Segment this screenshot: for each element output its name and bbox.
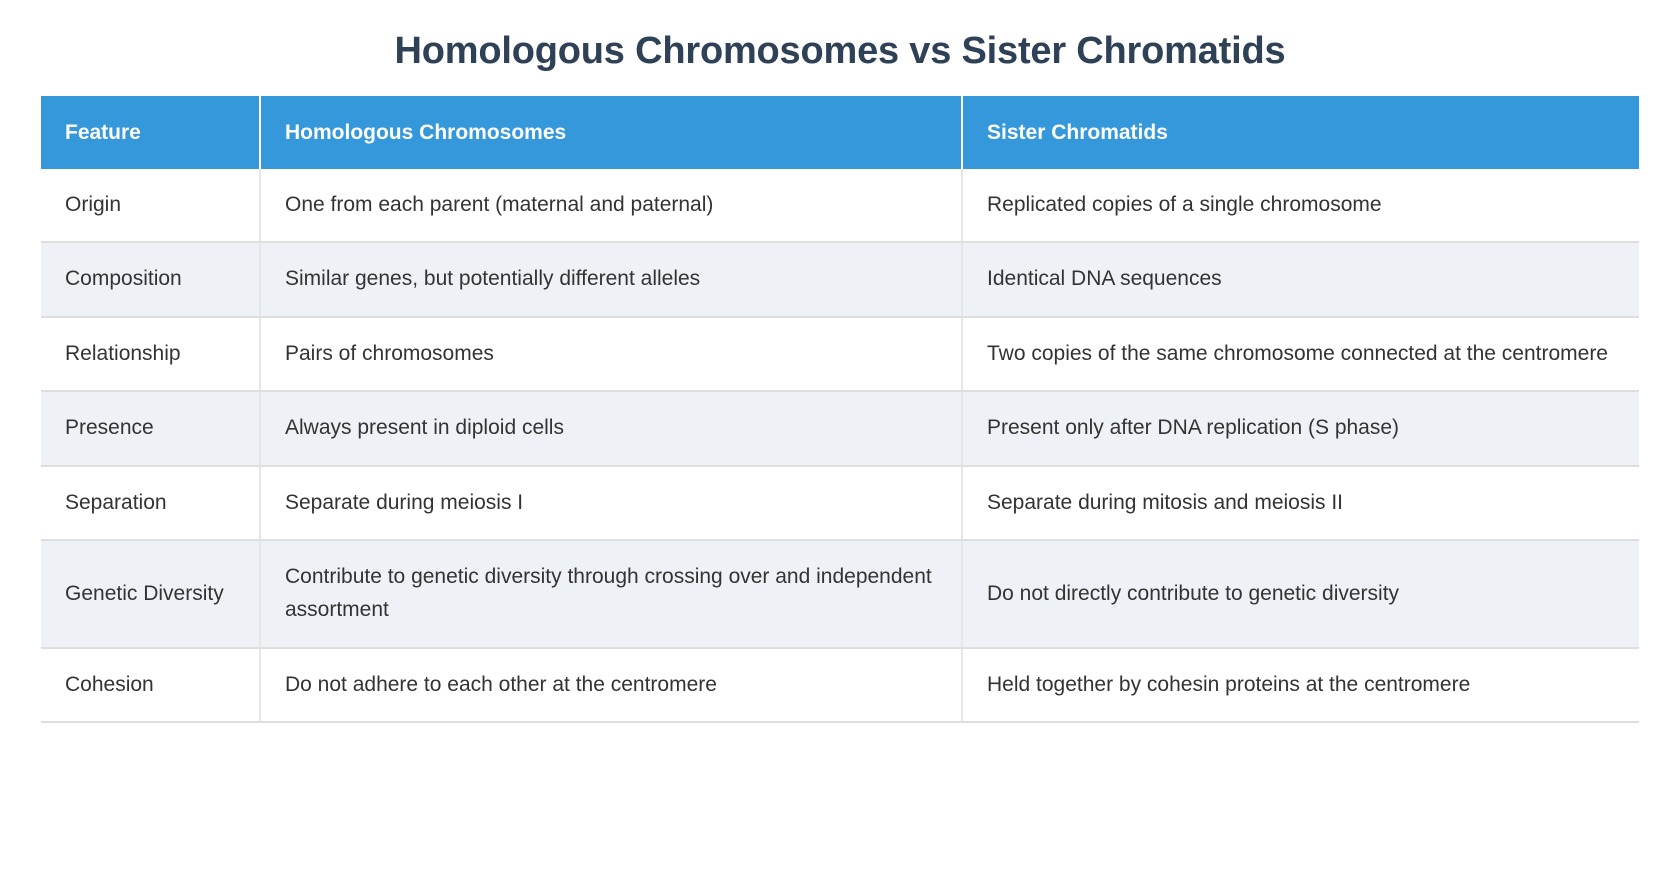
- column-header-sister-chromatids: Sister Chromatids: [962, 96, 1639, 169]
- table-row: Genetic Diversity Contribute to genetic …: [41, 540, 1639, 647]
- cell-homologous: Similar genes, but potentially different…: [260, 242, 962, 317]
- page-root: Homologous Chromosomes vs Sister Chromat…: [0, 0, 1680, 892]
- cell-feature: Separation: [41, 466, 260, 541]
- cell-homologous: Contribute to genetic diversity through …: [260, 540, 962, 647]
- column-header-homologous-chromosomes: Homologous Chromosomes: [260, 96, 962, 169]
- cell-homologous: Pairs of chromosomes: [260, 317, 962, 392]
- page-title: Homologous Chromosomes vs Sister Chromat…: [0, 0, 1680, 96]
- cell-homologous: Always present in diploid cells: [260, 391, 962, 466]
- cell-homologous: One from each parent (maternal and pater…: [260, 169, 962, 243]
- table-header-row: Feature Homologous Chromosomes Sister Ch…: [41, 96, 1639, 169]
- table-row: Relationship Pairs of chromosomes Two co…: [41, 317, 1639, 392]
- cell-feature: Origin: [41, 169, 260, 243]
- table-header: Feature Homologous Chromosomes Sister Ch…: [41, 96, 1639, 169]
- cell-sister: Present only after DNA replication (S ph…: [962, 391, 1639, 466]
- table-row: Presence Always present in diploid cells…: [41, 391, 1639, 466]
- cell-feature: Presence: [41, 391, 260, 466]
- cell-feature: Cohesion: [41, 648, 260, 723]
- cell-homologous: Do not adhere to each other at the centr…: [260, 648, 962, 723]
- cell-sister: Two copies of the same chromosome connec…: [962, 317, 1639, 392]
- cell-homologous: Separate during meiosis I: [260, 466, 962, 541]
- table-row: Origin One from each parent (maternal an…: [41, 169, 1639, 243]
- cell-sister: Do not directly contribute to genetic di…: [962, 540, 1639, 647]
- cell-sister: Held together by cohesin proteins at the…: [962, 648, 1639, 723]
- table-row: Cohesion Do not adhere to each other at …: [41, 648, 1639, 723]
- comparison-table: Feature Homologous Chromosomes Sister Ch…: [41, 96, 1639, 723]
- cell-feature: Genetic Diversity: [41, 540, 260, 647]
- cell-sister: Identical DNA sequences: [962, 242, 1639, 317]
- table-row: Separation Separate during meiosis I Sep…: [41, 466, 1639, 541]
- column-header-feature: Feature: [41, 96, 260, 169]
- table-body: Origin One from each parent (maternal an…: [41, 169, 1639, 722]
- cell-sister: Separate during mitosis and meiosis II: [962, 466, 1639, 541]
- cell-sister: Replicated copies of a single chromosome: [962, 169, 1639, 243]
- cell-feature: Composition: [41, 242, 260, 317]
- table-row: Composition Similar genes, but potential…: [41, 242, 1639, 317]
- cell-feature: Relationship: [41, 317, 260, 392]
- comparison-table-container: Feature Homologous Chromosomes Sister Ch…: [41, 96, 1639, 723]
